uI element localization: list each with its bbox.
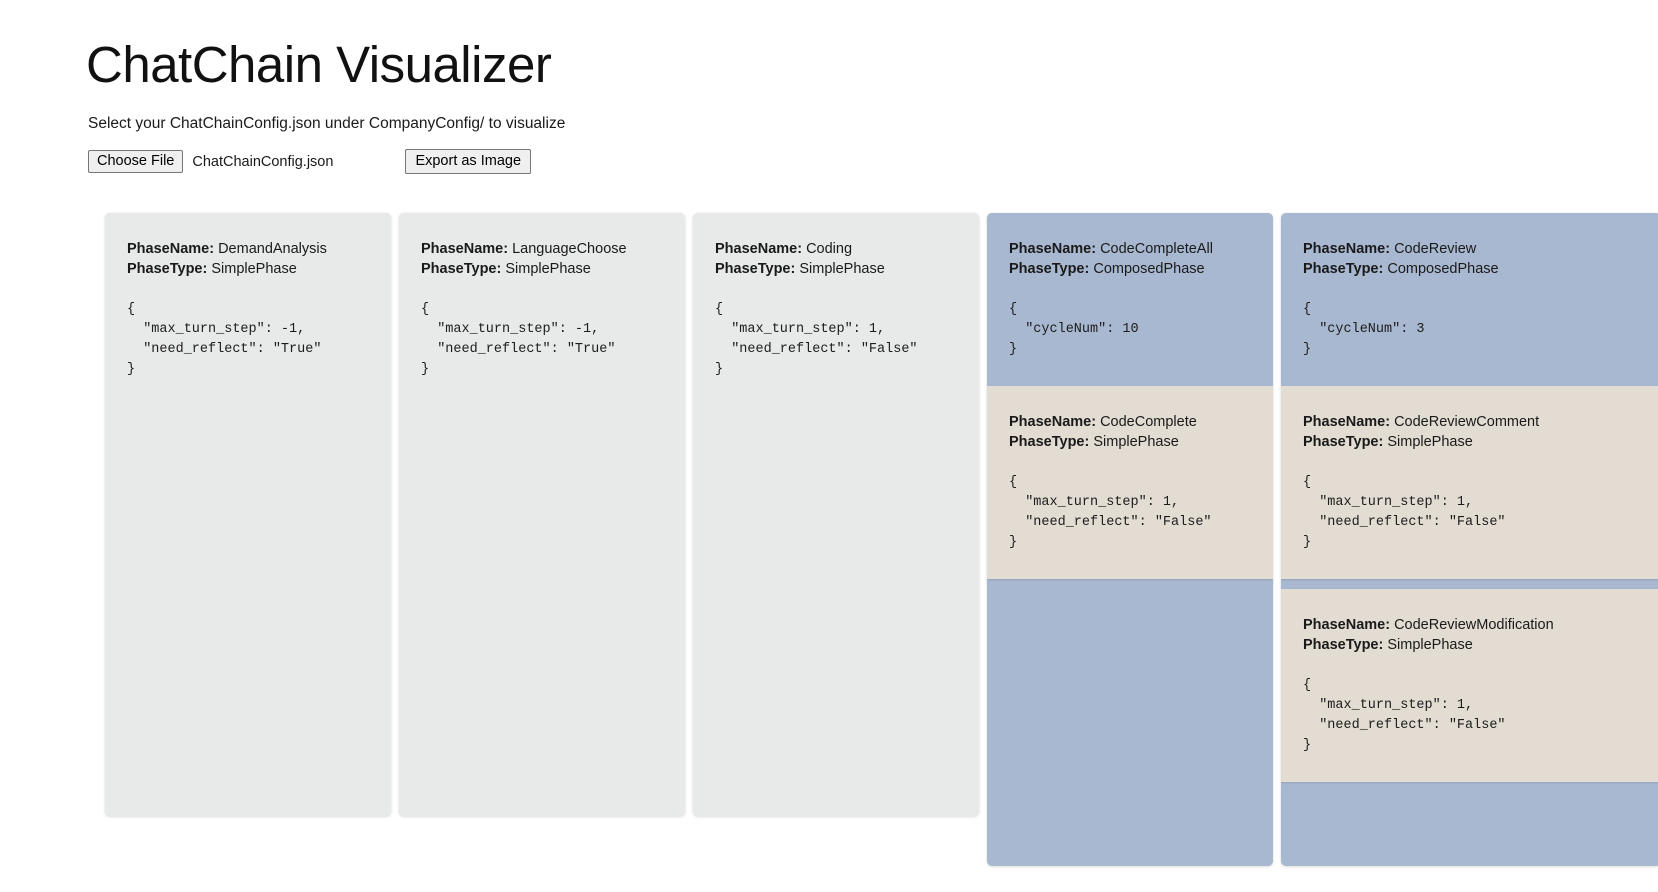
file-input[interactable]: Choose File ChatChainConfig.json — [88, 151, 333, 172]
phase-type-key: PhaseType: — [1303, 637, 1383, 653]
phase-name-key: PhaseName: — [1009, 414, 1096, 430]
phase-name-key: PhaseName: — [1009, 241, 1096, 257]
phase-name-key: PhaseName: — [1303, 414, 1390, 430]
phase-meta: PhaseName: CodingPhaseType: SimplePhase — [715, 239, 957, 279]
phase-config-json: { "max_turn_step": 1, "need_reflect": "F… — [1009, 473, 1251, 553]
phase-meta: PhaseName: CodeReviewPhaseType: Composed… — [1303, 239, 1639, 279]
phase-type-value: ComposedPhase — [1383, 261, 1498, 277]
phase-type-value: SimplePhase — [1089, 434, 1178, 450]
phase-name-value: Coding — [802, 241, 852, 257]
phase-config-json: { "max_turn_step": 1, "need_reflect": "F… — [1303, 473, 1639, 553]
controls-row: Choose File ChatChainConfig.json Export … — [88, 150, 1658, 174]
sub-phase-list: PhaseName: CodeReviewCommentPhaseType: S… — [1281, 386, 1658, 792]
phase-meta: PhaseName: CodeReviewModificationPhaseTy… — [1303, 615, 1639, 655]
phase-type-value: SimplePhase — [795, 261, 884, 277]
phase-name-line: PhaseName: Coding — [715, 239, 957, 259]
phase-card[interactable]: PhaseName: CodeCompleteAllPhaseType: Com… — [987, 213, 1273, 866]
phase-name-key: PhaseName: — [715, 241, 802, 257]
phase-name-line: PhaseName: CodeCompleteAll — [1009, 239, 1251, 259]
phase-config-json: { "cycleNum": 3 } — [1303, 300, 1639, 360]
page-header: ChatChain Visualizer Select your ChatCha… — [0, 0, 1658, 174]
phase-name-value: CodeReviewComment — [1390, 414, 1539, 430]
chat-chain-row: PhaseName: DemandAnalysisPhaseType: Simp… — [105, 213, 1658, 873]
phase-type-value: SimplePhase — [1383, 637, 1472, 653]
composed-phase-header: PhaseName: CodeReviewPhaseType: Composed… — [1281, 239, 1658, 360]
selected-file-name: ChatChainConfig.json — [192, 154, 333, 170]
phase-name-key: PhaseName: — [1303, 241, 1390, 257]
phase-name-line: PhaseName: LanguageChoose — [421, 239, 663, 259]
phase-type-value: SimplePhase — [207, 261, 296, 277]
phase-type-line: PhaseType: SimplePhase — [715, 259, 957, 279]
sub-phase-card[interactable]: PhaseName: CodeReviewModificationPhaseTy… — [1281, 589, 1658, 782]
phase-type-key: PhaseType: — [1303, 261, 1383, 277]
phase-type-line: PhaseType: SimplePhase — [127, 259, 369, 279]
phase-card[interactable]: PhaseName: CodeReviewPhaseType: Composed… — [1281, 213, 1658, 866]
sub-phase-card[interactable]: PhaseName: CodeCompletePhaseType: Simple… — [987, 386, 1273, 579]
phase-meta: PhaseName: CodeReviewCommentPhaseType: S… — [1303, 412, 1639, 452]
phase-name-value: CodeComplete — [1096, 414, 1197, 430]
app-root: ChatChain Visualizer Select your ChatCha… — [0, 0, 1658, 892]
phase-meta: PhaseName: CodeCompletePhaseType: Simple… — [1009, 412, 1251, 452]
phase-type-line: PhaseType: SimplePhase — [1009, 432, 1251, 452]
phase-type-value: ComposedPhase — [1089, 261, 1204, 277]
phase-name-key: PhaseName: — [1303, 617, 1390, 633]
phase-card[interactable]: PhaseName: LanguageChoosePhaseType: Simp… — [399, 213, 685, 816]
phase-type-key: PhaseType: — [715, 261, 795, 277]
phase-name-value: CodeReview — [1390, 241, 1476, 257]
phase-type-line: PhaseType: SimplePhase — [1303, 432, 1639, 452]
phase-type-line: PhaseType: ComposedPhase — [1303, 259, 1639, 279]
phase-type-value: SimplePhase — [501, 261, 590, 277]
phase-name-key: PhaseName: — [421, 241, 508, 257]
phase-name-line: PhaseName: CodeComplete — [1009, 412, 1251, 432]
phase-config-json: { "max_turn_step": 1, "need_reflect": "F… — [715, 300, 957, 380]
phase-type-key: PhaseType: — [127, 261, 207, 277]
phase-name-line: PhaseName: CodeReviewModification — [1303, 615, 1639, 635]
phase-name-line: PhaseName: CodeReview — [1303, 239, 1639, 259]
phase-meta: PhaseName: DemandAnalysisPhaseType: Simp… — [127, 239, 369, 279]
phase-name-value: DemandAnalysis — [214, 241, 327, 257]
phase-card[interactable]: PhaseName: DemandAnalysisPhaseType: Simp… — [105, 213, 391, 816]
phase-meta: PhaseName: CodeCompleteAllPhaseType: Com… — [1009, 239, 1251, 279]
phase-name-value: CodeReviewModification — [1390, 617, 1554, 633]
composed-phase-header: PhaseName: CodeCompleteAllPhaseType: Com… — [987, 239, 1273, 360]
phase-type-line: PhaseType: SimplePhase — [1303, 635, 1639, 655]
phase-name-line: PhaseName: CodeReviewComment — [1303, 412, 1639, 432]
phase-config-json: { "max_turn_step": -1, "need_reflect": "… — [127, 300, 369, 380]
phase-type-key: PhaseType: — [421, 261, 501, 277]
phase-card[interactable]: PhaseName: CodingPhaseType: SimplePhase{… — [693, 213, 979, 816]
choose-file-button[interactable]: Choose File — [88, 150, 183, 174]
phase-type-key: PhaseType: — [1009, 434, 1089, 450]
phase-type-value: SimplePhase — [1383, 434, 1472, 450]
phase-name-value: LanguageChoose — [508, 241, 627, 257]
sub-phase-card[interactable]: PhaseName: CodeReviewCommentPhaseType: S… — [1281, 386, 1658, 579]
page-title: ChatChain Visualizer — [86, 36, 1658, 93]
phase-config-json: { "cycleNum": 10 } — [1009, 300, 1251, 360]
phase-type-key: PhaseType: — [1009, 261, 1089, 277]
phase-name-value: CodeCompleteAll — [1096, 241, 1213, 257]
page-subtitle: Select your ChatChainConfig.json under C… — [88, 115, 1658, 134]
phase-type-key: PhaseType: — [1303, 434, 1383, 450]
phase-name-line: PhaseName: DemandAnalysis — [127, 239, 369, 259]
phase-name-key: PhaseName: — [127, 241, 214, 257]
export-as-image-button[interactable]: Export as Image — [405, 149, 531, 175]
sub-phase-list: PhaseName: CodeCompletePhaseType: Simple… — [987, 386, 1273, 589]
phase-config-json: { "max_turn_step": 1, "need_reflect": "F… — [1303, 676, 1639, 756]
phase-type-line: PhaseType: SimplePhase — [421, 259, 663, 279]
phase-type-line: PhaseType: ComposedPhase — [1009, 259, 1251, 279]
phase-config-json: { "max_turn_step": -1, "need_reflect": "… — [421, 300, 663, 380]
phase-meta: PhaseName: LanguageChoosePhaseType: Simp… — [421, 239, 663, 279]
